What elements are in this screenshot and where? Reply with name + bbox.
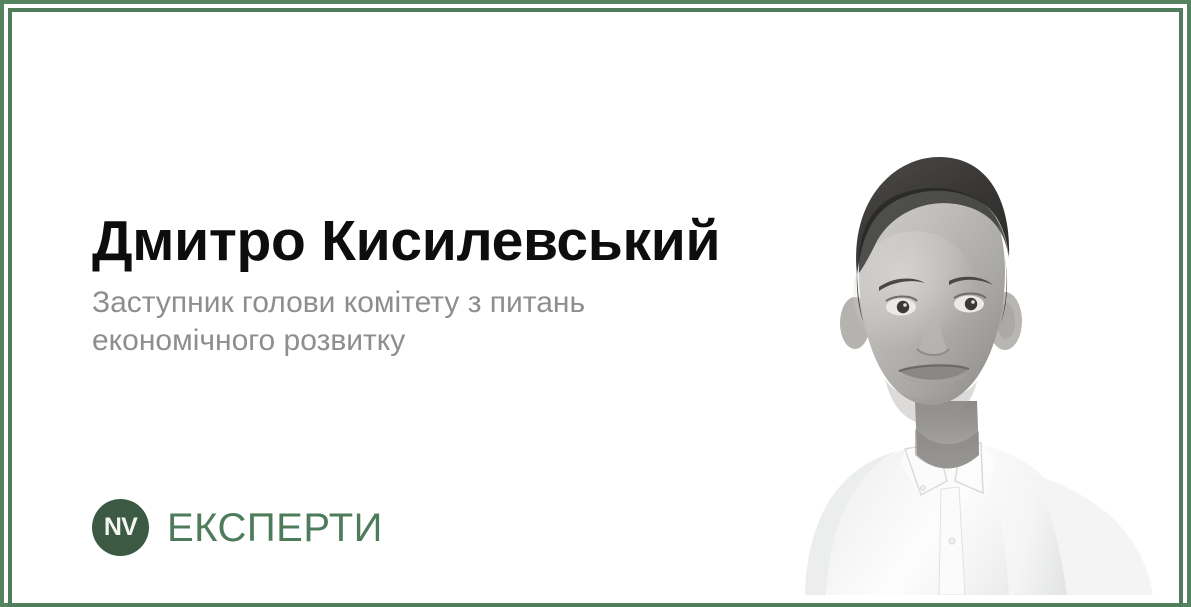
nv-experts-logo[interactable]: NV ЕКСПЕРТИ bbox=[92, 499, 383, 556]
shirt-body bbox=[826, 443, 1087, 595]
person-name: Дмитро Кисилевський bbox=[92, 212, 752, 272]
text-block: Дмитро Кисилевський Заступник голови ком… bbox=[92, 212, 752, 361]
person-role: Заступник голови комітету з питань еконо… bbox=[92, 284, 752, 361]
portrait-photo bbox=[709, 143, 1179, 595]
face bbox=[859, 169, 1005, 405]
expert-quote-card: Дмитро Кисилевський Заступник голови ком… bbox=[0, 0, 1191, 607]
nv-badge-label: NV bbox=[104, 515, 137, 540]
logo-wordmark: ЕКСПЕРТИ bbox=[167, 508, 383, 548]
nv-badge-icon: NV bbox=[92, 499, 149, 556]
hair bbox=[856, 157, 1009, 275]
